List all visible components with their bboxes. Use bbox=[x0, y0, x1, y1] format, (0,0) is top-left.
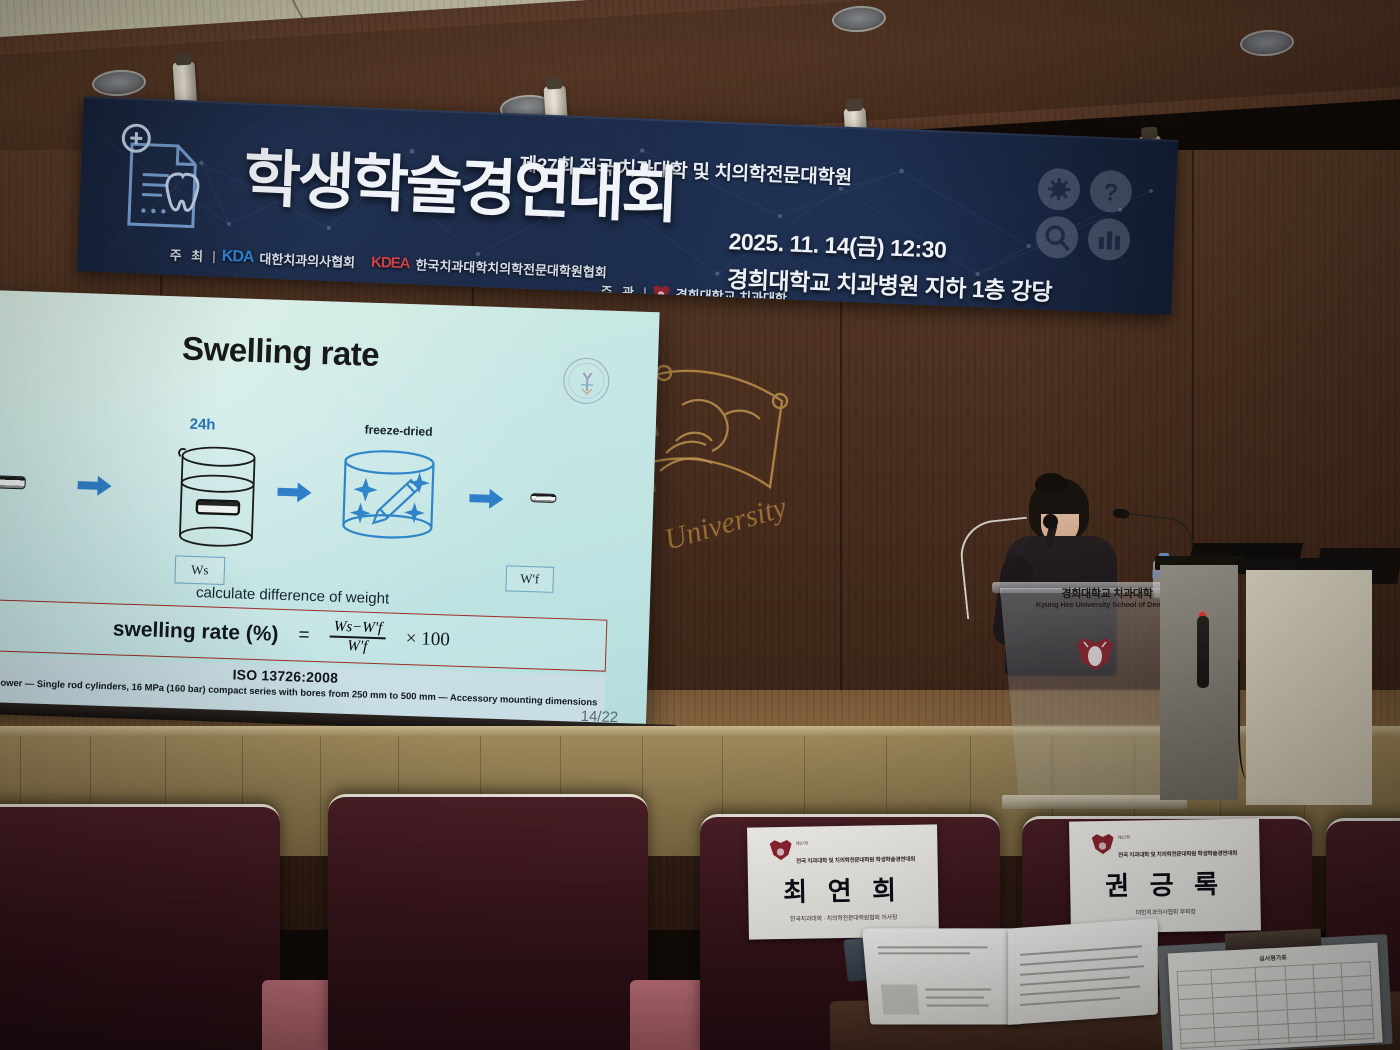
banner-host-org: 대한치과의사협회 bbox=[259, 248, 355, 271]
weight-wet-label: Ws bbox=[191, 562, 209, 579]
placard-header: 제27회 전국 치과대학 및 치의학전문대학원 학생학술경연대회 bbox=[1092, 824, 1238, 863]
formula-fraction: Ws−W'f W'f bbox=[329, 619, 386, 656]
weight-wet-box: Ws bbox=[174, 555, 225, 585]
seat-cushion bbox=[262, 980, 334, 1050]
name-placard: 제27회 전국 치과대학 및 치의학전문대학원 학생학술경연대회 권 긍 록 대… bbox=[1069, 818, 1261, 933]
booklet-right-page bbox=[1008, 918, 1158, 1025]
kdea-logo-text: KDEA bbox=[371, 254, 410, 273]
university-logo-icon bbox=[563, 357, 610, 404]
auditorium-seat bbox=[328, 794, 648, 1050]
placard-header-text: 전국 치과대학 및 치의학전문대학원 학생학술경연대회 bbox=[796, 857, 915, 865]
slide-caption: calculate difference of weight bbox=[196, 584, 390, 607]
svg-text:?: ? bbox=[1103, 179, 1119, 207]
kyunghee-crest-icon bbox=[770, 840, 792, 860]
divider: | bbox=[212, 248, 216, 263]
kyunghee-crest-icon bbox=[1075, 636, 1115, 672]
document-tooth-icon bbox=[106, 121, 216, 245]
formula-denominator: W'f bbox=[329, 637, 386, 656]
specimen-disc-dried bbox=[530, 493, 556, 503]
placard-role: 대한치과의사협회 부회장 bbox=[1136, 906, 1196, 916]
specimen-disc-initial bbox=[0, 475, 26, 489]
booklet-left-page bbox=[862, 928, 1020, 1024]
seat-cushion bbox=[630, 980, 706, 1050]
placard-header-text: 전국 치과대학 및 치의학전문대학원 학생학술경연대회 bbox=[1118, 851, 1237, 859]
open-booklet bbox=[864, 917, 1157, 1027]
kda-logo-text: KDA bbox=[221, 247, 253, 266]
lecture-hall-photo: University bbox=[0, 0, 1400, 1050]
placard-name: 최 연 희 bbox=[783, 870, 903, 909]
scoring-sheet-grid bbox=[1177, 961, 1375, 1049]
projection-screen: Swelling rate 24h freeze-dried bbox=[0, 290, 660, 730]
banner-title: 학생학술경연대회 bbox=[242, 149, 676, 228]
name-placard: 제27회 전국 치과대학 및 치의학전문대학원 학생학술경연대회 최 연 희 한… bbox=[747, 824, 939, 939]
kyunghee-crest-icon bbox=[1092, 834, 1114, 854]
slide-title: Swelling rate bbox=[182, 329, 380, 374]
beaker-icon bbox=[174, 444, 261, 551]
formula-numerator: Ws−W'f bbox=[330, 619, 387, 638]
arrow-right-icon bbox=[469, 486, 504, 511]
microphone-stand bbox=[1197, 616, 1209, 688]
weight-dry-box: W'f bbox=[505, 565, 554, 593]
formula-multiplier: × 100 bbox=[405, 628, 450, 651]
slide-label-freeze-dried: freeze-dried bbox=[364, 423, 432, 439]
arrow-right-icon bbox=[277, 480, 312, 505]
auditorium-seat bbox=[0, 804, 280, 1050]
placard-header: 제27회 전국 치과대학 및 치의학전문대학원 학생학술경연대회 bbox=[770, 830, 916, 869]
scoring-sheet: 심사평가표 bbox=[1168, 943, 1383, 1050]
banner-icon-cluster: ? bbox=[1032, 166, 1141, 262]
second-lectern bbox=[1246, 570, 1372, 805]
placard-name: 권 긍 록 bbox=[1105, 864, 1225, 903]
placard-header-prefix: 제27회 bbox=[1118, 835, 1130, 840]
placard-header-prefix: 제27회 bbox=[796, 841, 808, 846]
formula-lhs: swelling rate (%) bbox=[112, 617, 278, 646]
banner-host-label: 주 최 bbox=[169, 245, 206, 265]
slide-label-24h: 24h bbox=[189, 416, 215, 434]
arrow-right-icon bbox=[77, 473, 112, 498]
placard-role: 한국치과대학 · 치의학전문대학원협회 이사장 bbox=[790, 912, 897, 923]
weight-dry-label: W'f bbox=[520, 571, 539, 588]
snowflake-icon bbox=[349, 470, 430, 526]
judging-clipboard: 심사평가표 bbox=[1157, 934, 1392, 1050]
formula-equals: = bbox=[298, 624, 310, 646]
presentation-slide: Swelling rate 24h freeze-dried bbox=[0, 290, 660, 730]
freeze-dryer-icon bbox=[335, 448, 442, 545]
